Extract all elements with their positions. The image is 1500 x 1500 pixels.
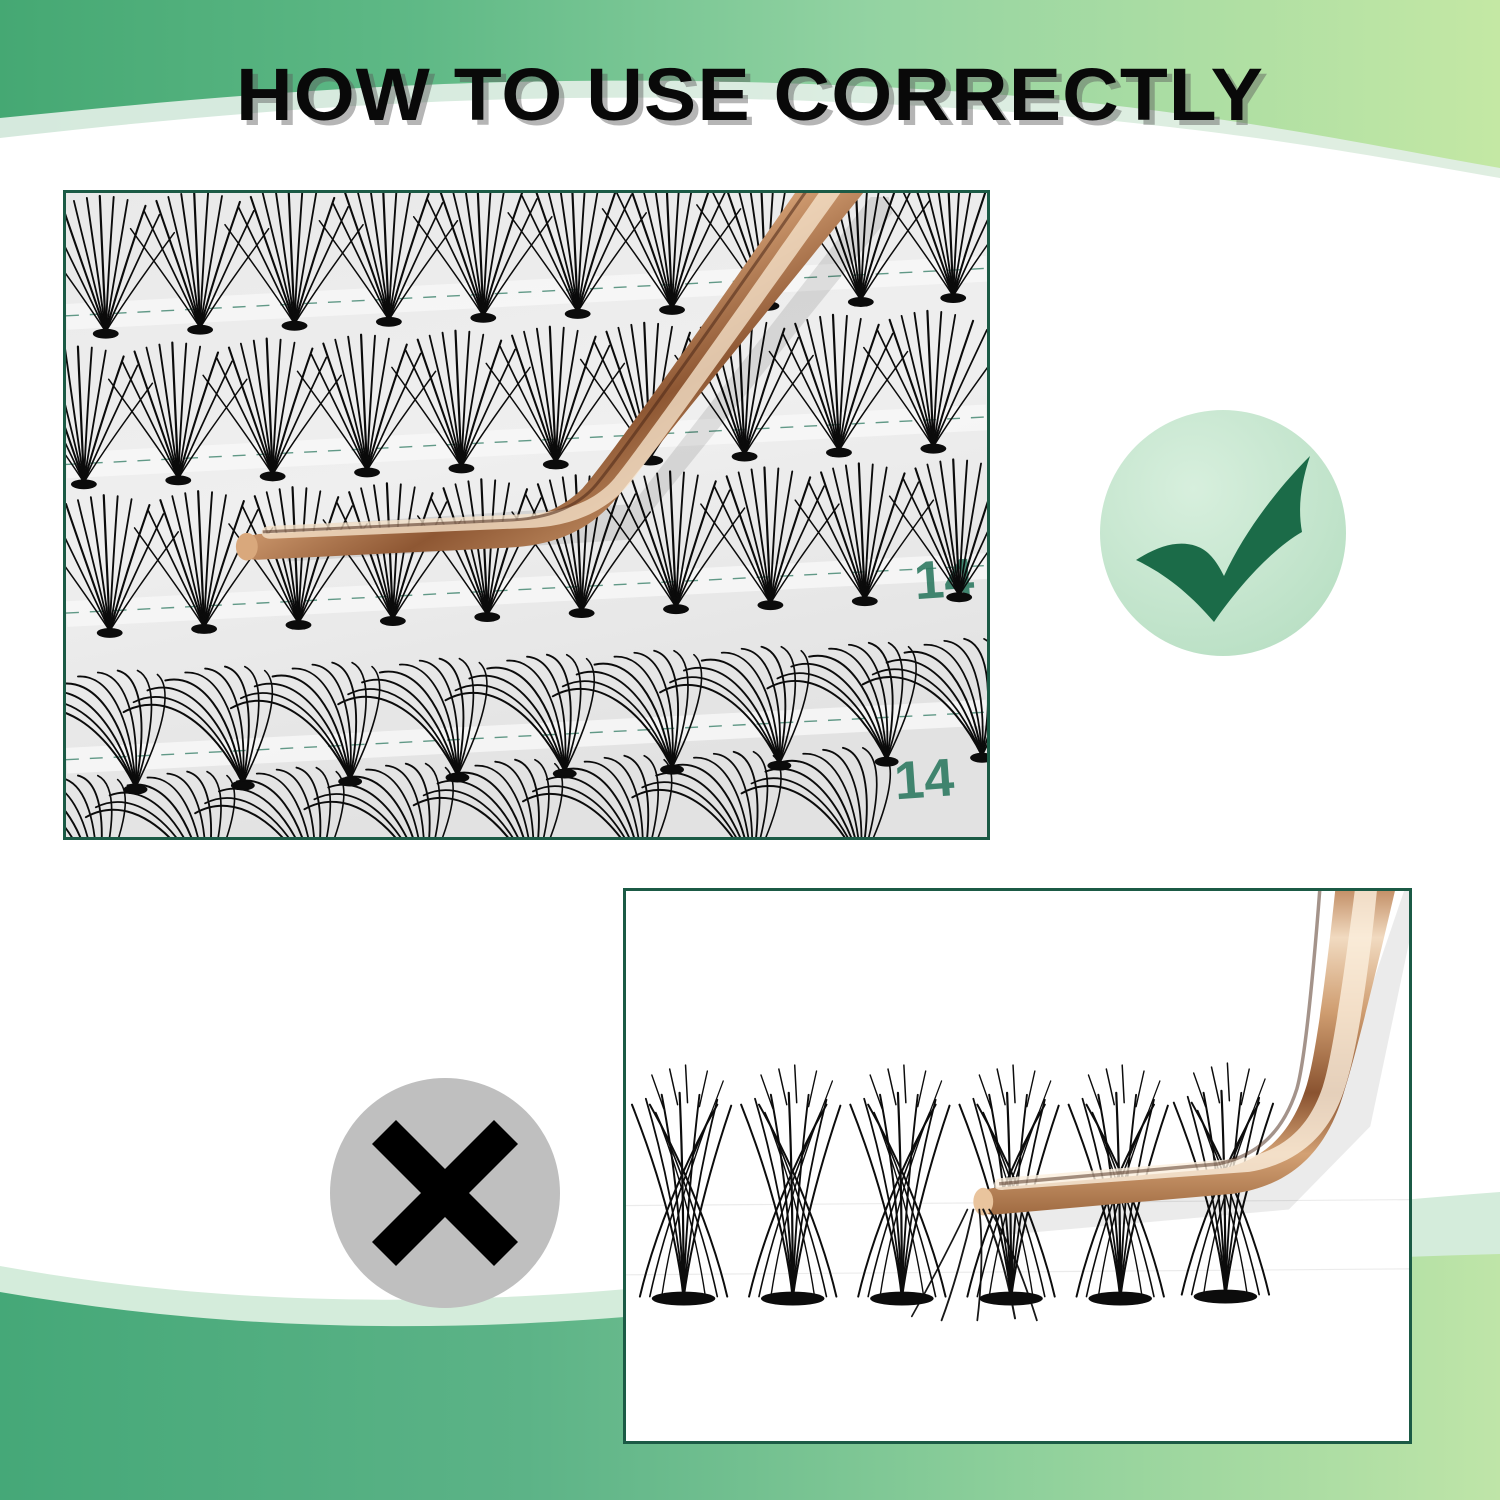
status-badge-wrong xyxy=(330,1078,560,1308)
tray-size-label-14-b: 14 xyxy=(892,748,956,811)
tweezer-tip xyxy=(236,533,258,561)
correct-usage-photo: 14 14 xyxy=(63,190,990,840)
infographic-page: HOW TO USE CORRECTLY xyxy=(0,0,1500,1500)
check-icon xyxy=(1136,456,1310,622)
cross-icon xyxy=(372,1120,518,1266)
incorrect-usage-photo xyxy=(623,888,1412,1444)
page-title: HOW TO USE CORRECTLY xyxy=(0,52,1500,137)
status-badge-correct xyxy=(1100,410,1346,656)
